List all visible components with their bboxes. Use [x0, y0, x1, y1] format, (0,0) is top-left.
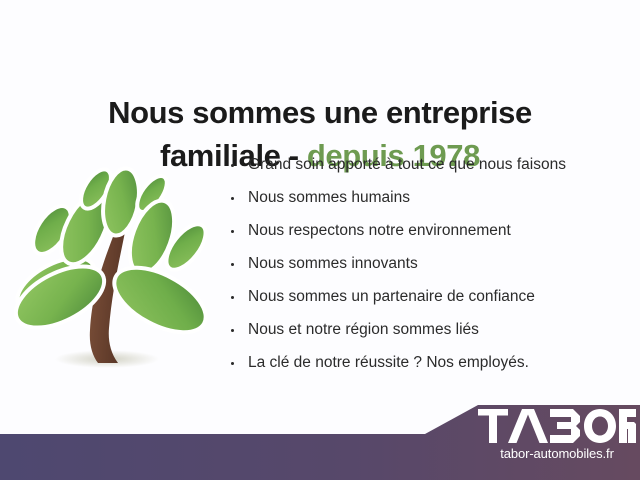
bullet-icon: [231, 197, 234, 200]
brand-logo[interactable]: tabor-automobiles.fr: [478, 409, 640, 477]
list-item-label: Nous et notre région sommes liés: [248, 321, 479, 338]
tree-leaf: [104, 254, 216, 345]
bullet-icon: [231, 329, 234, 332]
list-item: Nous sommes un partenaire de confiance: [228, 280, 628, 313]
headline-line-1: Nous sommes une entreprise: [108, 95, 532, 130]
list-item-label: La clé de notre réussite ? Nos employés.: [248, 354, 529, 371]
list-item: Nous sommes humains: [228, 181, 628, 214]
list-item-label: Nous sommes humains: [248, 189, 410, 206]
bullet-icon: [231, 263, 234, 266]
list-item-label: Nous respectons notre environnement: [248, 222, 511, 239]
slide-canvas: Nous sommes une entreprise familiale - d…: [0, 0, 640, 480]
bullet-icon: [231, 296, 234, 299]
list-item: Nous respectons notre environnement: [228, 214, 628, 247]
bullet-icon: [231, 164, 234, 167]
benefits-list: Grand soin apporté à tout ce que nous fa…: [228, 148, 628, 379]
tabor-wordmark: [478, 409, 636, 443]
tree-logo-illustration: [12, 152, 217, 392]
list-item-label: Nous sommes un partenaire de confiance: [248, 288, 535, 305]
list-item: Nous sommes innovants: [228, 247, 628, 280]
bullet-icon: [231, 230, 234, 233]
list-item-label: Nous sommes innovants: [248, 255, 418, 272]
list-item: La clé de notre réussite ? Nos employés.: [228, 346, 628, 379]
list-item-label: Grand soin apporté à tout ce que nous fa…: [248, 156, 566, 173]
brand-tagline: tabor-automobiles.fr: [478, 446, 636, 461]
list-item: Grand soin apporté à tout ce que nous fa…: [228, 148, 628, 181]
list-item: Nous et notre région sommes liés: [228, 313, 628, 346]
bullet-icon: [231, 362, 234, 365]
